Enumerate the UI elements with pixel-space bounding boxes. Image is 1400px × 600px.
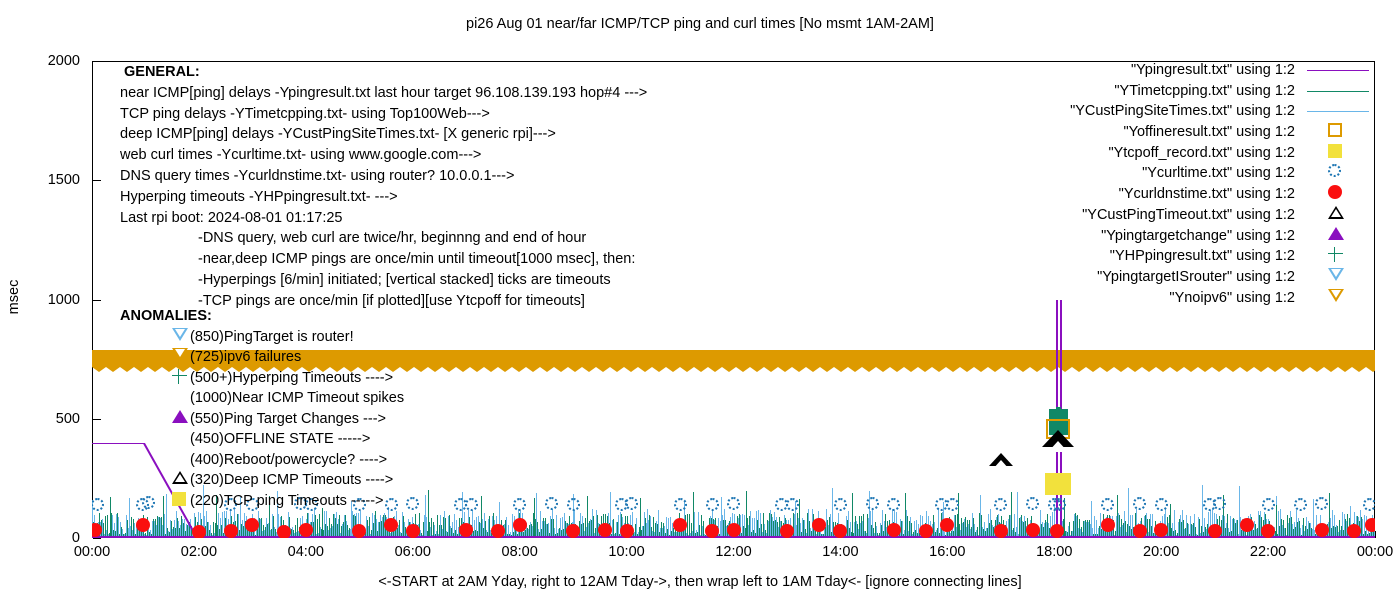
general-line: DNS query times -Ycurldnstime.txt- using… [120,166,647,187]
deep-icmp-noise-tick [556,515,557,538]
tcp-ping-noise-spike [1329,493,1330,538]
deep-icmp-noise-tick [206,511,207,538]
noipv6-triangle-tip [1352,367,1366,372]
curl-time-marker [1315,497,1328,510]
legend-symbol [1328,164,1346,182]
filled-circle-icon [1328,185,1342,199]
deep-icmp-noise-tick [1180,515,1181,538]
deep-icmp-noise-tick [324,511,325,538]
y-tick-mark [93,538,101,539]
anomaly-row: (400)Reboot/powercycle? ----> [120,450,404,471]
deep-icmp-noise-tick [1020,517,1021,538]
dns-time-marker [1050,524,1064,538]
dns-time-marker [1101,518,1115,532]
deep-icmp-noise-spike [721,497,722,538]
deep-icmp-noise-tick [1258,511,1259,538]
curl-time-marker [887,498,900,511]
anomaly-label: (220)TCP ping Timeouts -----> [190,493,384,509]
legend-label: "Ycurldnstime.txt" using 1:2 [1119,184,1295,205]
tcp-ping-noise-spike [905,493,906,538]
deep-icmp-noise-spike [647,509,648,538]
legend-entry: "Ycurldnstime.txt" using 1:2 [1000,184,1375,205]
noipv6-triangle-tip [526,367,540,372]
anomaly-row: (850)PingTarget is router! [120,327,404,348]
deep-icmp-noise-tick [176,511,177,538]
curl-time-marker [706,498,719,511]
dns-time-marker [1154,523,1168,537]
deep-icmp-noise-tick [476,517,477,538]
tcp-ping-noise-spike [1170,504,1171,538]
deep-icmp-noise-tick [1130,515,1131,538]
tcp-ping-noise-spike [640,498,641,538]
legend-symbol [1328,247,1346,265]
dns-time-marker [1240,518,1254,532]
legend-symbol [1328,227,1346,245]
noipv6-triangle-tip [960,367,974,372]
curl-time-marker [994,498,1007,511]
deep-icmp-noise-tick [722,515,723,538]
anomaly-row: (725)ipv6 failures [120,347,404,368]
dns-time-marker [1133,524,1147,538]
tcp-ping-noise-spike [799,499,800,538]
dns-time-marker [812,518,826,532]
deep-icmp-noise-tick [882,510,883,538]
legend-label: "YCustPingTimeout.txt" using 1:2 [1082,205,1295,226]
dns-time-marker [459,523,473,537]
noipv6-triangle-tip [764,367,778,372]
x-axis-caption: <-START at 2AM Yday, right to 12AM Tday-… [0,574,1400,590]
dns-time-marker [780,524,794,538]
anomaly-label: (550)Ping Target Changes ---> [190,411,386,427]
noipv6-triangle-tip [750,367,764,372]
deep-icmp-noise-tick [1186,515,1187,538]
noipv6-triangle-tip [512,367,526,372]
legend-entry: "YHPpingresult.txt" using 1:2 [1000,246,1375,267]
curl-time-marker [1363,498,1375,511]
dns-time-marker [887,523,901,537]
deep-icmp-noise-tick [1306,517,1307,538]
deep-icmp-noise-tick [326,511,327,538]
tcp-ping-noise-spike [481,496,482,538]
deep-icmp-noise-tick [954,515,955,538]
deep-icmp-noise-tick [772,517,773,538]
anomaly-label: (450)OFFLINE STATE -----> [190,431,370,447]
legend-label: "YpingtargetISrouter" using 1:2 [1097,267,1295,288]
deep-icmp-noise-tick [938,509,939,538]
noipv6-triangle-tip [792,367,806,372]
deep-icmp-noise-tick [1344,514,1345,538]
open-triangle-up-icon [172,471,188,484]
x-tick-label: 10:00 [592,545,662,559]
general-line: Last rpi boot: 2024-08-01 01:17:25 [120,208,647,229]
curl-time-marker [625,497,638,510]
noipv6-triangle-tip [470,367,484,372]
deep-icmp-noise-tick [872,510,873,538]
anomaly-row: (500+)Hyperping Timeouts ----> [120,368,404,389]
deep-icmp-noise-spike [1091,501,1092,538]
legend-entry: "YTimetcpping.txt" using 1:2 [1000,81,1375,102]
legend-line-swatch [1307,91,1369,92]
anomaly-row: (550)Ping Target Changes ---> [120,409,404,430]
chart-legend: "Ypingresult.txt" using 1:2"YTimetcpping… [1000,60,1375,308]
deep-icmp-noise-tick [776,517,777,538]
noipv6-triangle-tip [736,367,750,372]
deep-icmp-noise-tick [426,517,427,538]
general-lines: near ICMP[ping] delays -Ypingresult.txt … [120,83,647,229]
dns-time-marker [136,518,150,532]
deep-icmp-noise-tick [1150,514,1151,538]
x-tick-label: 18:00 [1019,545,1089,559]
anomaly-label: (725)ipv6 failures [190,349,301,365]
noipv6-triangle-tip [414,367,428,372]
legend-key [1301,184,1375,205]
legend-line-swatch [1307,70,1369,71]
noipv6-triangle-tip [778,367,792,372]
dns-time-marker [566,524,580,538]
page-title: pi26 Aug 01 near/far ICMP/TCP ping and c… [0,16,1400,32]
noipv6-triangle-tip [1198,367,1212,372]
noipv6-triangle-tip [890,367,904,372]
deep-icmp-timeout-marker-inner [1048,441,1068,452]
general-line: deep ICMP[ping] delays -YCustPingSiteTim… [120,124,647,145]
legend-key [1301,101,1375,122]
tcp-ping-noise-spike [1276,505,1277,538]
open-circle-icon [1328,164,1341,177]
deep-icmp-noise-tick [344,515,345,538]
deep-icmp-noise-tick [1278,511,1279,538]
curl-time-marker [834,498,847,511]
noipv6-triangle-tip [1324,367,1338,372]
deep-icmp-noise-tick [848,511,849,538]
legend-label: "YTimetcpping.txt" using 1:2 [1114,81,1295,102]
deep-icmp-noise-tick [380,515,381,538]
legend-key [1301,60,1375,81]
x-tick-label: 06:00 [378,545,448,559]
plus-icon [1328,247,1343,262]
noipv6-triangle-tip [1310,367,1324,372]
deep-icmp-noise-tick [596,510,597,538]
deep-icmp-noise-tick [564,513,565,538]
deep-icmp-noise-tick [366,516,367,538]
tcp-ping-noise-spike [428,490,429,538]
deep-icmp-noise-tick [1296,510,1297,538]
deep-icmp-noise-tick [830,514,831,538]
general-indented-lines: -DNS query, web curl are twice/hr, begin… [120,228,647,311]
filled-triangle-up-icon [1328,227,1344,240]
general-indented-line: -Hyperpings [6/min] initiated; [vertical… [120,270,647,291]
deep-icmp-noise-spike [314,508,315,538]
deep-icmp-noise-spike [980,495,981,538]
legend-entry: "YCustPingSiteTimes.txt" using 1:2 [1000,101,1375,122]
deep-icmp-noise-tick [808,509,809,538]
anomaly-label: (400)Reboot/powercycle? ----> [190,452,387,468]
x-tick-label: 12:00 [699,545,769,559]
deep-icmp-noise-tick [670,517,671,538]
noipv6-triangle-tip [834,367,848,372]
noipv6-triangle-tip [484,367,498,372]
legend-symbol [1328,289,1346,307]
open-triangle-up-icon [1328,206,1344,219]
noipv6-triangle-tip [1142,367,1156,372]
dns-time-marker [192,525,206,538]
legend-entry: "Ytcpoff_record.txt" using 1:2 [1000,143,1375,164]
anomaly-label: (320)Deep ICMP Timeouts ----> [190,472,393,488]
filled-square-icon [1328,144,1342,158]
noipv6-triangle-tip [946,367,960,372]
legend-key [1301,81,1375,102]
anomaly-symbol [172,369,190,387]
general-annotation-block: GENERAL: near ICMP[ping] delays -Ypingre… [120,62,647,312]
legend-key [1301,205,1375,226]
deep-icmp-noise-tick [770,510,771,538]
noipv6-triangle-tip [568,367,582,372]
noipv6-triangle-tip [1002,367,1016,372]
curl-time-marker [567,498,580,511]
anomalies-annotation-block: ANOMALIES: (850)PingTarget is router!(72… [120,306,404,511]
noipv6-triangle-tip [1226,367,1240,372]
curl-time-marker [1155,498,1168,511]
anomaly-symbol [172,410,190,428]
deep-icmp-noise-tick [454,514,455,538]
deep-icmp-noise-tick [972,513,973,538]
deep-icmp-noise-tick [336,512,337,538]
deep-icmp-noise-tick [1040,510,1041,538]
deep-icmp-noise-tick [1198,517,1199,538]
curl-time-marker [727,497,740,510]
deep-icmp-noise-tick [1194,514,1195,538]
legend-symbol [1328,144,1346,162]
deep-icmp-noise-tick [1152,514,1153,538]
deep-icmp-timeout-marker-inner [993,460,1009,469]
deep-icmp-noise-tick [126,515,127,538]
deep-icmp-noise-tick [506,517,507,538]
x-tick-label: 08:00 [485,545,555,559]
tcp-ping-noise-spike [1117,495,1118,538]
tcp-ping-noise-spike [852,493,853,538]
noipv6-triangle-tip [722,367,736,372]
dns-time-marker [299,523,313,537]
deep-icmp-noise-tick [742,514,743,538]
noipv6-triangle-tip [442,367,456,372]
deep-icmp-noise-tick [826,509,827,538]
deep-icmp-noise-tick [1076,516,1077,538]
deep-icmp-noise-tick [382,517,383,538]
tcp-ping-noise-spike [375,511,376,538]
deep-icmp-noise-tick [1118,513,1119,538]
noipv6-triangle-tip [1184,367,1198,372]
tcp-ping-noise-spike [322,508,323,538]
noipv6-triangle-tip [596,367,610,372]
deep-icmp-noise-tick [988,514,989,538]
legend-key [1301,143,1375,164]
general-line: Hyperping timeouts -YHPpingresult.txt- -… [120,187,647,208]
deep-icmp-noise-tick [334,514,335,538]
deep-icmp-noise-tick [1024,516,1025,538]
noipv6-triangle-tip [1366,367,1375,372]
dns-time-marker [92,523,102,537]
tcp-ping-noise-spike [587,496,588,538]
anomaly-row: (220)TCP ping Timeouts -----> [120,491,404,512]
plus-icon [172,369,187,384]
deep-icmp-noise-tick [118,517,119,538]
x-tick-label: 00:00 [1340,545,1400,559]
noipv6-triangle-tip [988,367,1002,372]
noipv6-triangle-tip [918,367,932,372]
y-axis-label: msec [6,267,22,327]
deep-icmp-noise-tick [116,514,117,538]
noipv6-triangle-tip [876,367,890,372]
legend-line-swatch [1307,111,1369,112]
curl-time-marker [513,498,526,511]
dns-time-marker [513,518,527,532]
noipv6-triangle-tip [1030,367,1044,372]
noipv6-triangle-tip [1170,367,1184,372]
general-indented-line: -DNS query, web curl are twice/hr, begin… [120,228,647,249]
dns-time-marker [277,525,291,538]
legend-key [1301,267,1375,288]
curl-time-marker [1262,498,1275,511]
legend-label: "Ycurltime.txt" using 1:2 [1142,163,1295,184]
noipv6-triangle-tip [904,367,918,372]
legend-entry: "Ypingresult.txt" using 1:2 [1000,60,1375,81]
noipv6-triangle-tip [638,367,652,372]
anomalies-rows: (850)PingTarget is router!(725)ipv6 fail… [120,327,404,512]
noipv6-triangle-tip [498,367,512,372]
deep-icmp-noise-tick [1124,511,1125,538]
curl-time-marker [1133,497,1146,510]
noipv6-triangle-tip [652,367,666,372]
tcp-ping-noise-spike [958,493,959,538]
legend-label: "Ypingresult.txt" using 1:2 [1131,60,1295,81]
noipv6-triangle-tip [106,367,120,372]
deep-icmp-noise-tick [1334,515,1335,538]
noipv6-triangle-tip [92,367,106,372]
x-tick-label: 00:00 [57,545,127,559]
deep-icmp-noise-tick [1094,516,1095,538]
dns-time-marker [1208,524,1222,538]
deep-icmp-noise-tick [644,512,645,538]
noipv6-triangle-tip [1240,367,1254,372]
dns-time-marker [1315,523,1329,537]
general-line: web curl times -Ycurltime.txt- using www… [120,145,647,166]
tcp-timeout-marker [1045,473,1071,495]
legend-entry: "YCustPingTimeout.txt" using 1:2 [1000,205,1375,226]
noipv6-triangle-tip [1212,367,1226,372]
open-triangle-down-icon [172,328,188,341]
curl-time-marker [465,498,478,511]
noipv6-triangle-tip [1282,367,1296,372]
noipv6-triangle-tip [1072,367,1086,372]
anomaly-label: (1000)Near ICMP Timeout spikes [190,390,404,406]
curl-time-marker [92,498,104,511]
noipv6-triangle-tip [540,367,554,372]
deep-icmp-noise-tick [164,514,165,538]
deep-icmp-noise-tick [266,518,267,538]
x-tick-label: 02:00 [164,545,234,559]
noipv6-triangle-tip [1114,367,1128,372]
noipv6-triangle-tip [428,367,442,372]
noipv6-triangle-tip [862,367,876,372]
noipv6-triangle-tip [1156,367,1170,372]
legend-label: "Ypingtargetchange" using 1:2 [1101,226,1295,247]
legend-label: "Yoffineresult.txt" using 1:2 [1123,122,1295,143]
deep-icmp-noise-tick [272,514,273,538]
deep-icmp-noise-tick [112,515,113,538]
deep-icmp-noise-tick [1074,514,1075,538]
dns-time-marker [224,524,238,538]
curl-time-marker [786,498,799,511]
deep-icmp-noise-tick [1342,512,1343,538]
curl-time-marker [406,497,419,510]
deep-icmp-noise-tick [592,509,593,538]
tcp-ping-noise-spike [1011,492,1012,538]
noipv6-triangle-tip [582,367,596,372]
noipv6-triangle-tip [820,367,834,372]
deep-icmp-noise-tick [552,509,553,538]
open-triangle-down-icon [172,348,188,361]
noipv6-triangle-tip [932,367,946,372]
y-tick-label: 0 [28,531,80,545]
deep-icmp-noise-tick [218,513,219,538]
noipv6-triangle-tip [1296,367,1310,372]
deep-icmp-noise-tick [650,516,651,538]
legend-symbol [1328,185,1346,203]
noipv6-triangle-tip [848,367,862,372]
legend-symbol [1328,206,1346,224]
deep-icmp-noise-spike [758,510,759,538]
noipv6-triangle-tip [554,367,568,372]
tcp-ping-noise-spike [534,498,535,538]
dns-time-marker [727,523,741,537]
general-line: TCP ping delays -YTimetcpping.txt- using… [120,104,647,125]
dns-time-marker [673,518,687,532]
anomaly-row: (450)OFFLINE STATE -----> [120,429,404,450]
deep-icmp-noise-tick [1280,509,1281,538]
deep-icmp-noise-tick [372,513,373,538]
noipv6-triangle-tip [806,367,820,372]
dns-time-marker [620,524,634,538]
deep-icmp-noise-tick [1132,515,1133,538]
deep-icmp-noise-tick [1230,516,1231,538]
curl-time-marker [1213,497,1226,510]
deep-icmp-noise-tick [1182,510,1183,538]
deep-icmp-noise-tick [666,517,667,538]
curl-time-marker [1101,498,1114,511]
deep-icmp-noise-tick [760,513,761,538]
deep-icmp-noise-tick [448,516,449,538]
curl-time-marker [674,498,687,511]
deep-icmp-noise-tick [744,515,745,538]
deep-icmp-noise-tick [580,513,581,538]
dns-time-marker [1026,523,1040,537]
deep-icmp-noise-tick [1224,516,1225,538]
deep-icmp-noise-tick [756,511,757,538]
anomaly-symbol [172,492,190,510]
y-tick-label: 500 [28,412,80,426]
open-triangle-down-icon [1328,289,1344,302]
curl-time-marker [866,497,879,510]
deep-icmp-noise-tick [694,512,695,538]
noipv6-triangle-tip [666,367,680,372]
deep-icmp-noise-spike [1017,492,1018,538]
deep-icmp-noise-tick [550,516,551,538]
noipv6-triangle-tip [456,367,470,372]
deep-icmp-noise-tick [238,514,239,538]
deep-icmp-noise-spike [906,510,907,538]
filled-square-icon [172,492,186,506]
x-tick-label: 04:00 [271,545,341,559]
legend-key [1301,226,1375,247]
